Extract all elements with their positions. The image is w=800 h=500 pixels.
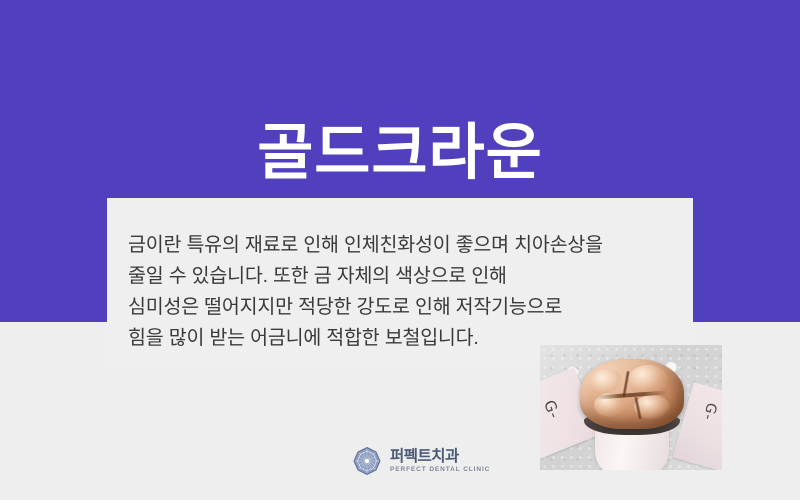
body-text-line: 줄일 수 있습니다. 또한 금 자체의 색상으로 인해	[128, 261, 688, 292]
body-text-line: 금이란 특유의 재료로 인해 인체친화성이 좋으며 치아손상을	[128, 230, 688, 261]
gold-crown-object	[580, 359, 684, 429]
page-title: 골드크라운	[0, 120, 800, 184]
logo-name-korean: 퍼펙트치과	[390, 449, 490, 465]
photo-backdrop: G- G-	[540, 345, 722, 470]
clinic-logo: 퍼펙트치과 PERFECT DENTAL CLINIC	[352, 444, 476, 478]
body-text: 금이란 특유의 재료로 인해 인체친화성이 좋으며 치아손상을 줄일 수 있습니…	[128, 230, 688, 354]
logo-name-english: PERFECT DENTAL CLINIC	[390, 467, 490, 474]
paper-label-right-text: G-	[699, 401, 719, 423]
page-stage: 골드크라운 금이란 특유의 재료로 인해 인체친화성이 좋으며 치아손상을 줄일…	[0, 0, 800, 500]
gold-crown-photo: G- G-	[540, 345, 722, 470]
logo-wordmark: 퍼펙트치과 PERFECT DENTAL CLINIC	[390, 449, 490, 474]
hexagon-emblem-icon	[352, 446, 382, 476]
paper-label-left-text: G-	[540, 397, 564, 421]
body-text-line: 심미성은 떨어지지만 적당한 강도로 인해 저작기능으로	[128, 292, 688, 323]
